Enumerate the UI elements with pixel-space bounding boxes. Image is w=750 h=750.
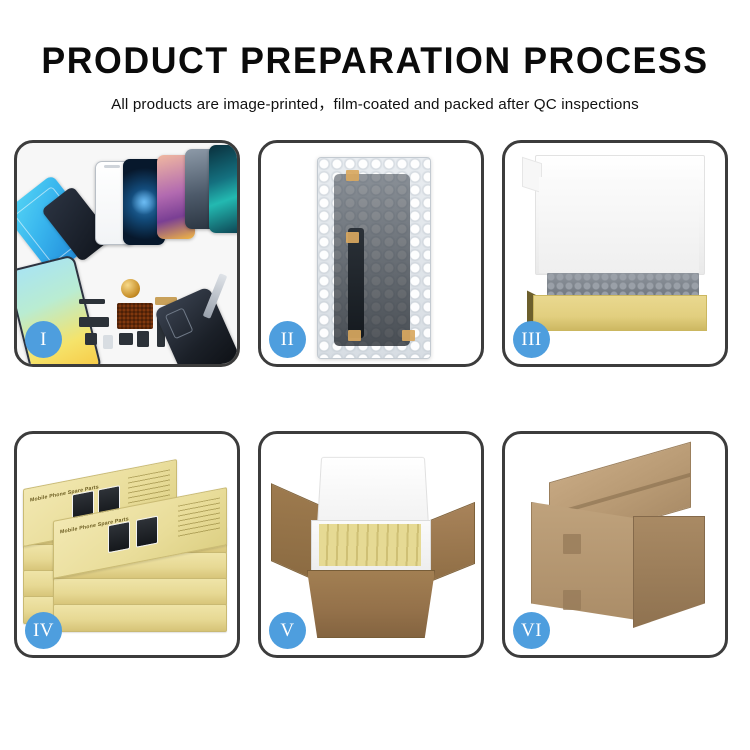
step-badge-3: III: [513, 321, 550, 358]
page-title: PRODUCT PREPARATION PROCESS: [13, 0, 737, 81]
process-step-panel-2[interactable]: II: [258, 140, 484, 367]
part-flex-strip: [79, 299, 105, 304]
carton-body-open: [307, 570, 435, 638]
step-badge-4: IV: [25, 612, 62, 649]
tape-piece-top: [346, 170, 359, 181]
carton-tape-upper: [563, 534, 581, 554]
speaker-module-icon: [121, 279, 140, 298]
part-button: [137, 331, 149, 347]
header: PRODUCT PREPARATION PROCESS All products…: [0, 0, 750, 114]
tape-piece-bottom-left: [348, 330, 361, 341]
page-subtitle: All products are image-printed，film-coat…: [0, 81, 750, 114]
process-step-panel-4[interactable]: Mobile Phone Spare Parts Mobile Phone Sp…: [14, 431, 240, 658]
wrapped-screen-part: [334, 174, 410, 346]
box-label-spec-lines-front: [178, 497, 220, 539]
white-foam-lining: [539, 177, 699, 273]
part-connector: [119, 333, 133, 345]
process-step-panel-3[interactable]: III: [502, 140, 728, 367]
flex-cable: [348, 228, 364, 338]
process-step-panel-6[interactable]: VI: [502, 431, 728, 658]
carton-front-face: [531, 502, 637, 620]
step-badge-1: I: [25, 321, 62, 358]
tape-piece-bottom-right: [402, 330, 415, 341]
yellow-boxes-inside: [319, 524, 421, 566]
part-bracket: [79, 317, 109, 327]
sealed-carton: [527, 462, 707, 626]
step-badge-5: V: [269, 612, 306, 649]
logic-board-chip: [117, 303, 153, 329]
process-step-grid: I II: [14, 140, 736, 685]
step-badge-6: VI: [513, 612, 550, 649]
box-label-screen-image-d: [136, 516, 158, 548]
yellow-box-front: [533, 295, 707, 331]
part-camera: [85, 333, 97, 345]
tape-piece-middle: [346, 232, 359, 243]
process-step-panel-5[interactable]: V: [258, 431, 484, 658]
carton-side-face: [633, 516, 705, 628]
process-step-panel-1[interactable]: I: [14, 140, 240, 367]
page-root: PRODUCT PREPARATION PROCESS All products…: [0, 0, 750, 750]
carton-tape-lower: [563, 590, 581, 610]
bubble-wrap-bag: [317, 157, 431, 359]
stacked-box-front-4: [53, 604, 227, 632]
box-label-screen-image-c: [108, 521, 130, 553]
phone-display-teal: [209, 145, 237, 233]
step-badge-2: II: [269, 321, 306, 358]
part-sim-tray: [103, 335, 113, 349]
stacked-box-front-3: [53, 578, 227, 606]
